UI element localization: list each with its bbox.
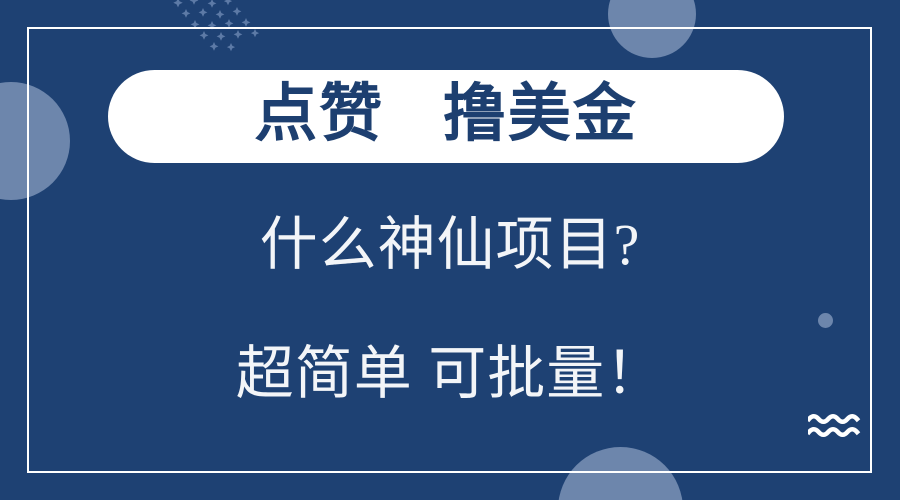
subheadline-line-2: 超简单 可批量！ — [0, 345, 900, 403]
promo-poster: 点赞 撸美金 什么神仙项目? 超简单 可批量！ — [0, 0, 900, 500]
decorative-circle-top-right — [608, 0, 696, 58]
headline-pill: 点赞 撸美金 — [108, 70, 784, 163]
subheadline-line-1: 什么神仙项目? — [0, 216, 900, 274]
decorative-circle-bottom-right — [558, 447, 683, 500]
wave-icon — [808, 412, 866, 440]
decorative-dot-right — [818, 313, 833, 328]
headline-text: 点赞 撸美金 — [254, 83, 638, 146]
star-speckles-icon — [168, 0, 278, 52]
decorative-circle-left — [0, 82, 70, 200]
